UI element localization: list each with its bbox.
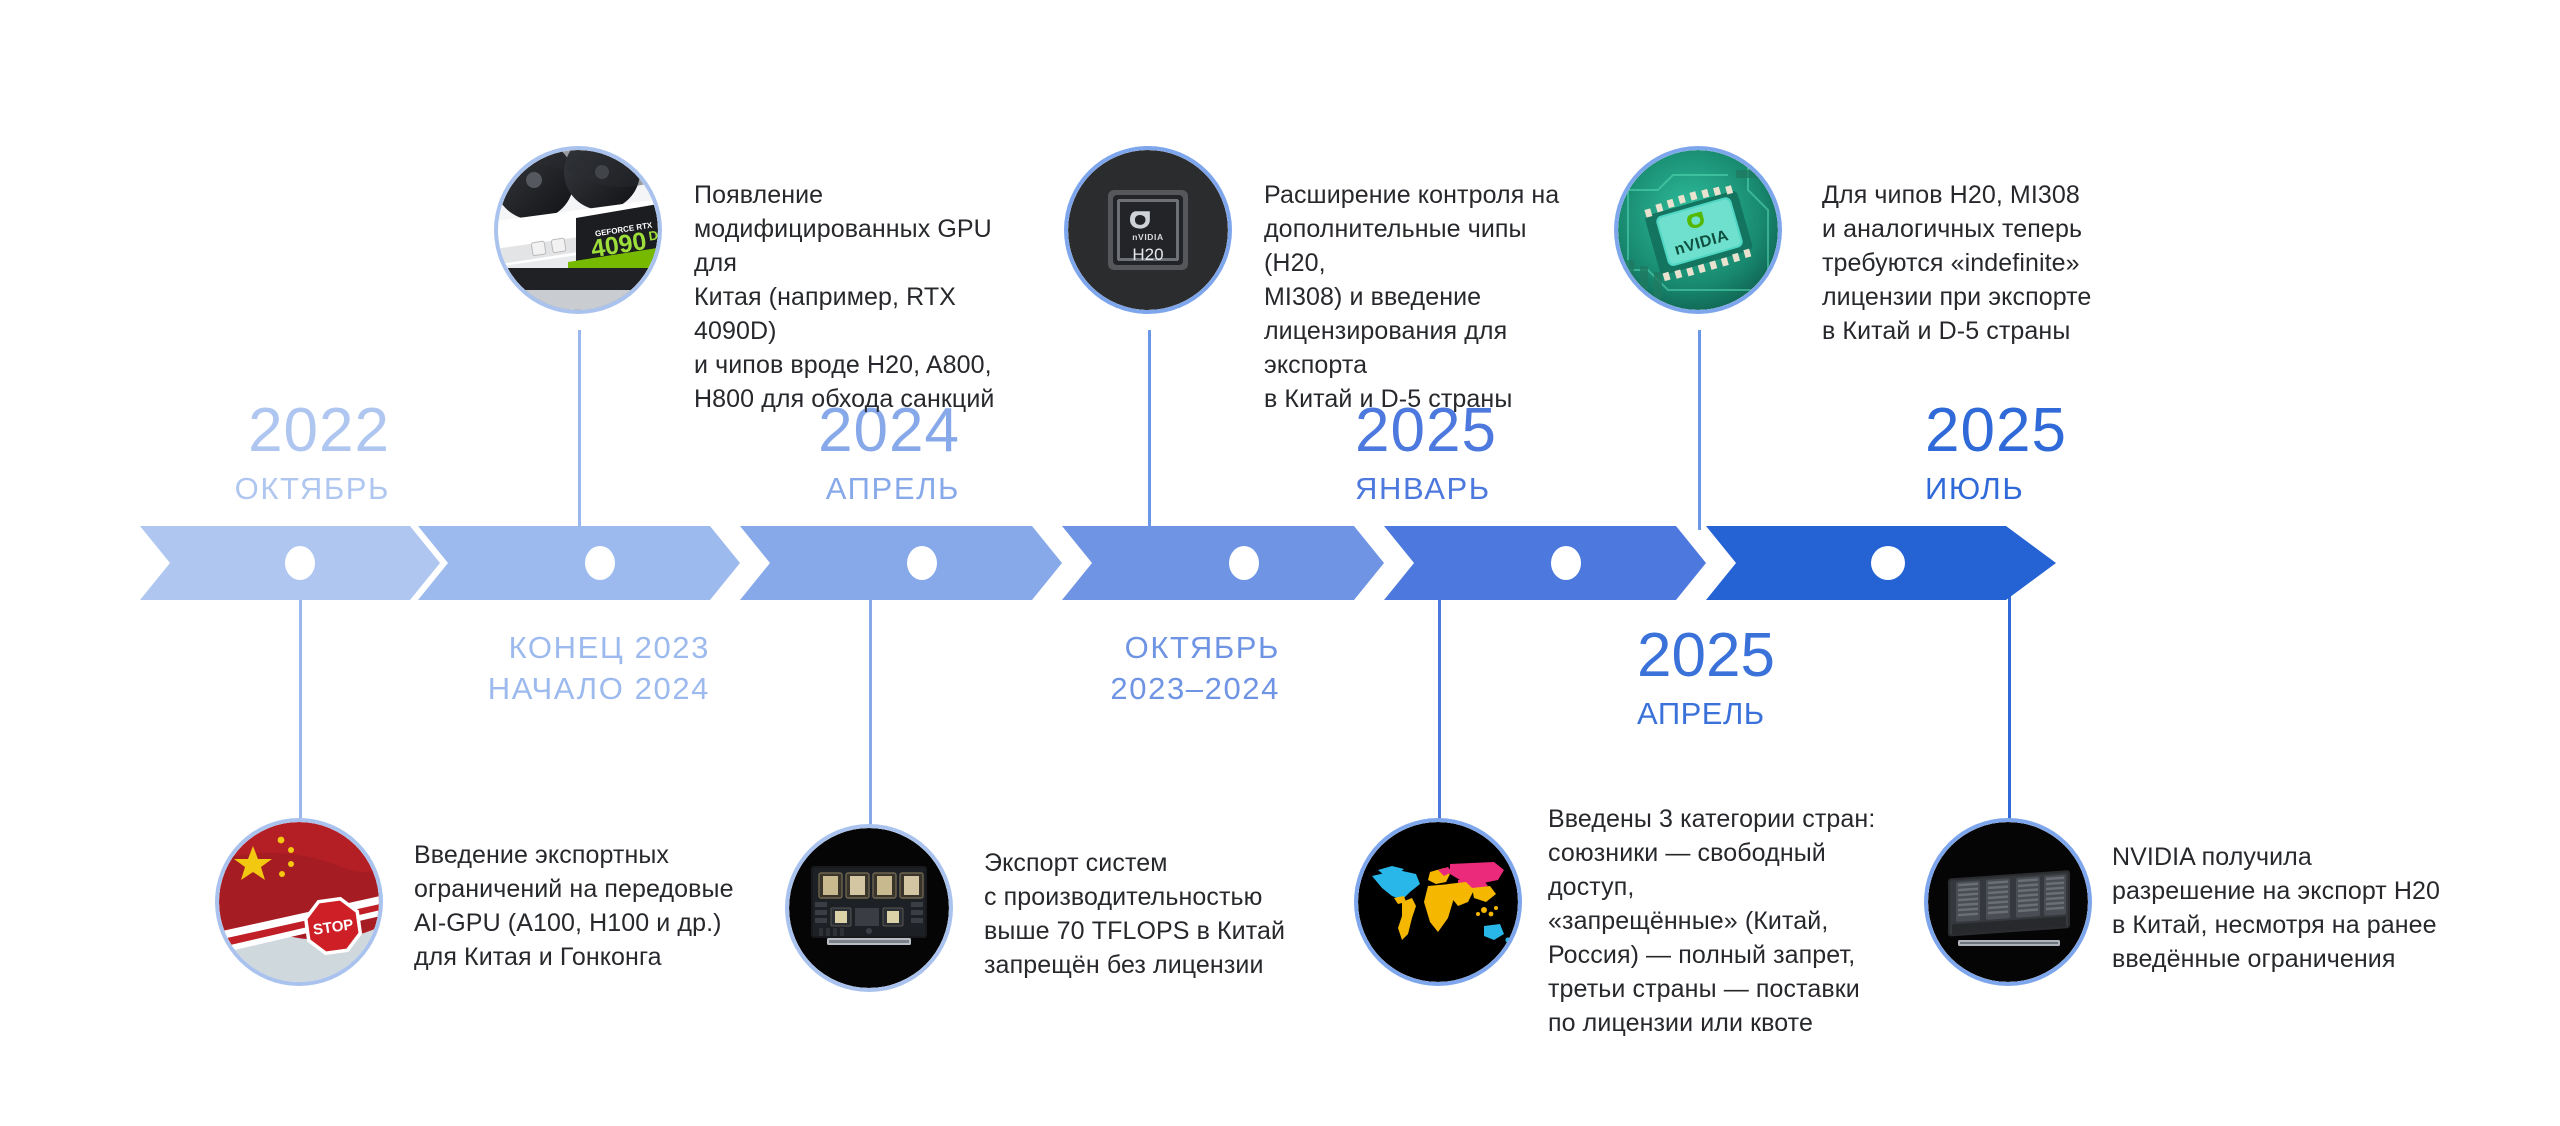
timeline-dot-2	[585, 546, 615, 580]
geforce-rtx-4090d-box-photo[interactable]: GEFORCE RTX 4090 D	[498, 150, 658, 310]
callout-tflops-limit: Экспорт систем с производительностью выш…	[984, 846, 1304, 982]
date-label-month: АПРЕЛЬ	[1637, 698, 1997, 729]
date-label-month: ОКТЯБРЬ	[40, 473, 390, 504]
timeline-segment-5[interactable]	[1384, 526, 1706, 600]
timeline-segment-1[interactable]	[140, 526, 440, 600]
timeline-segment-3[interactable]	[740, 526, 1062, 600]
timeline-arrow-bar	[140, 526, 2190, 600]
date-label-late-2023-early-2024: КОНЕЦ 2023 НАЧАЛО 2024	[330, 632, 710, 704]
gpu-server-board-photo[interactable]	[789, 828, 949, 988]
svg-text:D: D	[647, 227, 658, 243]
connector-line-m6	[1698, 330, 1701, 530]
nvidia-hgx-server-tray-photo[interactable]	[1928, 822, 2088, 982]
china-flag-stop-sign-photo[interactable]: STOP	[219, 822, 379, 982]
date-label-year: КОНЕЦ 2023	[330, 632, 710, 663]
connector-line-m2	[578, 330, 581, 530]
date-label-month: ИЮЛЬ	[1925, 473, 2265, 504]
timeline-infographic: 2022 ОКТЯБРЬ 2024 АПРЕЛЬ 2025 ЯНВАРЬ 202…	[0, 0, 2560, 1126]
date-label-year: 2022	[40, 400, 390, 462]
connector-line-m4	[1148, 330, 1151, 530]
date-label-year: ОКТЯБРЬ	[900, 632, 1280, 663]
timeline-dot-4	[1229, 546, 1259, 580]
callout-h20-export-permit: NVIDIA получила разрешение на экспорт H2…	[2112, 840, 2462, 976]
timeline-segment-6[interactable]	[1706, 526, 2056, 600]
green-chip-image: nVIDIA	[1618, 150, 1778, 310]
nvidia-green-circuit-chip-photo[interactable]: nVIDIA	[1618, 150, 1778, 310]
world-map-image	[1358, 822, 1518, 982]
connector-line-m1	[299, 596, 302, 822]
connector-line-m7	[2008, 596, 2011, 822]
date-label-2025-april: 2025 АПРЕЛЬ	[1637, 625, 1997, 729]
connector-line-m3	[869, 596, 872, 828]
gpu-box-image: GEFORCE RTX 4090 D	[498, 150, 658, 310]
timeline-dot-3	[907, 546, 937, 580]
timeline-segment-4[interactable]	[1062, 526, 1384, 600]
date-label-2022-october: 2022 ОКТЯБРЬ	[40, 400, 390, 504]
hgx-tray-image	[1928, 822, 2088, 982]
svg-text:H20: H20	[1132, 245, 1163, 264]
date-label-year: 2025	[1925, 400, 2265, 462]
timeline-segment-2[interactable]	[418, 526, 740, 600]
date-label-2025-july: 2025 ИЮЛЬ	[1925, 400, 2265, 504]
chevron-shape-icon	[1062, 526, 1384, 600]
date-label-month: 2023–2024	[900, 673, 1280, 704]
timeline-dot-6	[1871, 546, 1905, 580]
chevron-shape-icon	[418, 526, 740, 600]
timeline-dot-1	[285, 546, 315, 580]
callout-china-hk-restrictions: Введение экспортных ограничений на перед…	[414, 838, 754, 974]
china-stop-image: STOP	[219, 822, 379, 982]
world-map-country-tiers-photo[interactable]	[1358, 822, 1518, 982]
date-label-year: 2025	[1637, 625, 1997, 687]
date-label-october-2023-2024: ОКТЯБРЬ 2023–2024	[900, 632, 1280, 704]
chevron-shape-icon	[740, 526, 1062, 600]
callout-h20-controls: Расширение контроля на дополнительные чи…	[1264, 178, 1594, 416]
server-board-image	[789, 828, 949, 988]
svg-text:nVIDIA: nVIDIA	[1132, 232, 1163, 242]
date-label-month: НАЧАЛО 2024	[330, 673, 710, 704]
h20-chip-image: nVIDIA H20	[1068, 150, 1228, 310]
nvidia-h20-chip-photo[interactable]: nVIDIA H20	[1068, 150, 1228, 310]
date-label-month: ЯНВАРЬ	[1355, 473, 1695, 504]
callout-4090d: Появление модифицированных GPU для Китая…	[694, 178, 1024, 416]
connector-line-m5	[1438, 596, 1441, 822]
callout-indefinite-licenses: Для чипов H20, MI308 и аналогичных тепер…	[1822, 178, 2152, 348]
date-label-month: АПРЕЛЬ	[620, 473, 960, 504]
timeline-dot-5	[1551, 546, 1581, 580]
chevron-shape-icon	[1384, 526, 1706, 600]
callout-country-tiers: Введены 3 категории стран: союзники — св…	[1548, 802, 1898, 1040]
